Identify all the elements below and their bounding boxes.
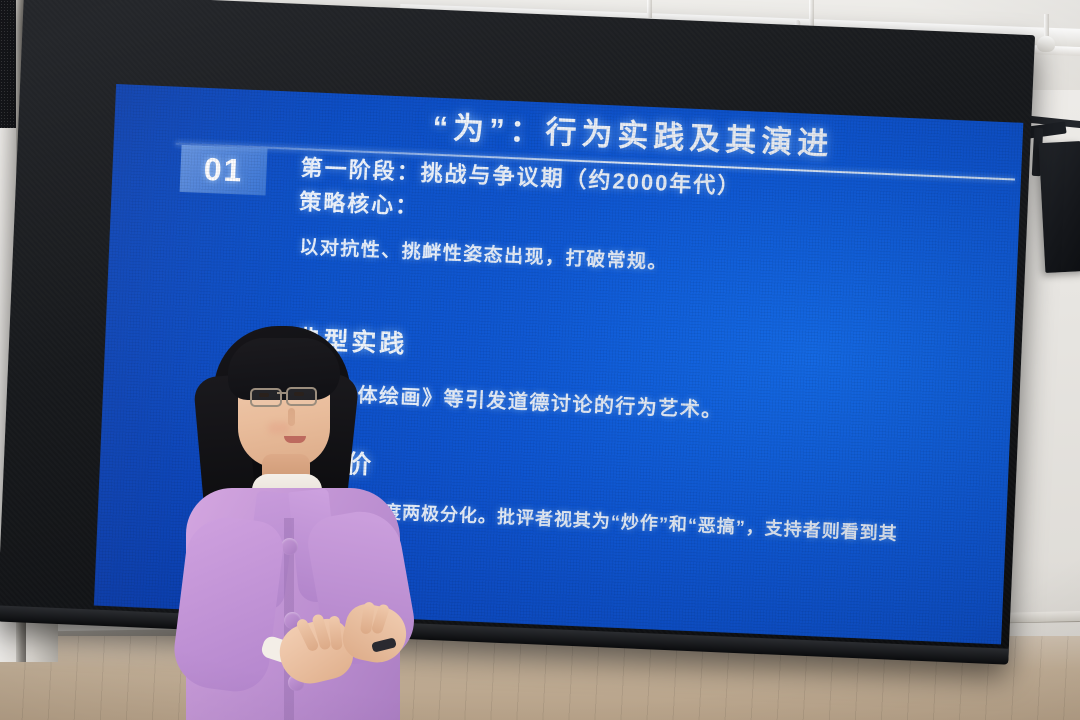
wall-speaker: [1039, 141, 1080, 273]
presenter: [176, 322, 408, 720]
hair-fringe: [228, 338, 340, 400]
eye-left: [259, 393, 269, 397]
slide-core-label: 策略核心：: [299, 184, 420, 221]
cheek: [268, 422, 290, 434]
eye-right: [294, 392, 304, 396]
nose: [288, 408, 295, 426]
glasses-lens-left: [250, 388, 282, 407]
glasses-lens-right: [286, 387, 317, 406]
blazer-button: [281, 538, 298, 555]
photo-scene: EXIT “为”：行为实践及其演进 01 第一阶段：挑战与争议期（约2000年代…: [0, 0, 1080, 720]
glasses-bridge: [277, 392, 287, 394]
led-screen: “为”：行为实践及其演进 01 第一阶段：挑战与争议期（约2000年代） 策略核…: [0, 0, 1043, 695]
slide-core-body: 以对抗性、挑衅性姿态出现，打破常规。: [299, 232, 669, 275]
section-number-badge: 01: [180, 145, 268, 196]
mouth: [284, 436, 306, 443]
